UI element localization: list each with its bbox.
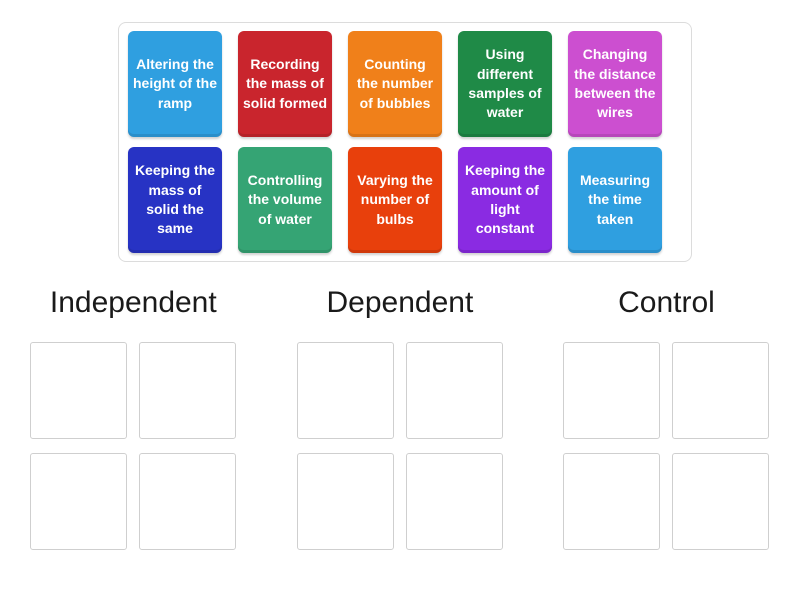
tile-label: Using different samples of water xyxy=(462,45,548,122)
tile-row-2: Keeping the mass of solid the same Contr… xyxy=(128,147,682,253)
drop-slot[interactable] xyxy=(406,453,503,550)
drop-slot[interactable] xyxy=(672,342,769,439)
category-independent: Independent xyxy=(0,288,267,550)
slot-grid-dependent xyxy=(297,342,503,550)
tile-label: Keeping the mass of solid the same xyxy=(132,161,218,238)
tile-label: Varying the number of bulbs xyxy=(352,171,438,229)
drop-slot[interactable] xyxy=(563,453,660,550)
category-title-dependent: Dependent xyxy=(326,288,473,318)
drop-slot[interactable] xyxy=(30,453,127,550)
drop-slot[interactable] xyxy=(139,342,236,439)
tile-measuring-time-taken[interactable]: Measuring the time taken xyxy=(568,147,662,253)
category-control: Control xyxy=(533,288,800,550)
drop-slot[interactable] xyxy=(406,342,503,439)
category-columns: Independent Dependent Control xyxy=(0,288,800,550)
tile-varying-number-bulbs[interactable]: Varying the number of bulbs xyxy=(348,147,442,253)
tile-label: Altering the height of the ramp xyxy=(132,55,218,113)
tile-using-samples-water[interactable]: Using different samples of water xyxy=(458,31,552,137)
tile-label: Changing the distance between the wires xyxy=(572,45,658,122)
tile-recording-mass-solid[interactable]: Recording the mass of solid formed xyxy=(238,31,332,137)
drop-slot[interactable] xyxy=(672,453,769,550)
slot-grid-control xyxy=(563,342,769,550)
category-dependent: Dependent xyxy=(267,288,534,550)
drop-slot[interactable] xyxy=(297,342,394,439)
drop-slot[interactable] xyxy=(297,453,394,550)
tile-bank-panel: Altering the height of the ramp Recordin… xyxy=(118,22,692,262)
drop-slot[interactable] xyxy=(563,342,660,439)
category-title-control: Control xyxy=(618,288,715,318)
tile-keeping-mass-solid-same[interactable]: Keeping the mass of solid the same xyxy=(128,147,222,253)
tile-label: Recording the mass of solid formed xyxy=(242,55,328,113)
drop-slot[interactable] xyxy=(139,453,236,550)
tile-controlling-volume-water[interactable]: Controlling the volume of water xyxy=(238,147,332,253)
tile-changing-distance-wires[interactable]: Changing the distance between the wires xyxy=(568,31,662,137)
tile-counting-bubbles[interactable]: Counting the number of bubbles xyxy=(348,31,442,137)
tile-label: Controlling the volume of water xyxy=(242,171,328,229)
tile-label: Keeping the amount of light constant xyxy=(462,161,548,238)
activity-page: Altering the height of the ramp Recordin… xyxy=(0,0,800,600)
tile-keeping-light-constant[interactable]: Keeping the amount of light constant xyxy=(458,147,552,253)
tile-label: Counting the number of bubbles xyxy=(352,55,438,113)
tile-label: Measuring the time taken xyxy=(572,171,658,229)
slot-grid-independent xyxy=(30,342,236,550)
drop-slot[interactable] xyxy=(30,342,127,439)
category-title-independent: Independent xyxy=(50,288,217,318)
tile-altering-height-ramp[interactable]: Altering the height of the ramp xyxy=(128,31,222,137)
tile-row-1: Altering the height of the ramp Recordin… xyxy=(128,31,682,137)
